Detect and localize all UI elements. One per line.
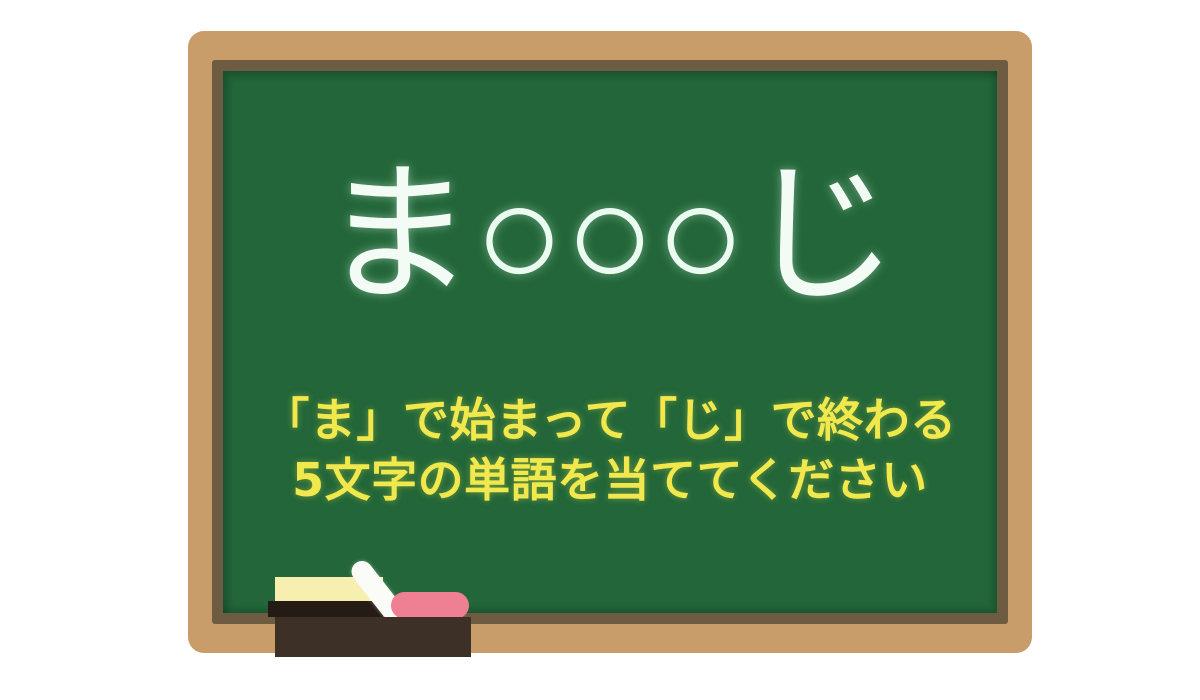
hint-line-2: 5文字の単語を当ててください — [223, 451, 997, 511]
chalk-tray — [275, 617, 471, 657]
chalkboard-surface: ま ○ ○ ○ じ 「ま」で始まって「じ」で終わる 5文字の単語を当ててください — [223, 71, 997, 613]
chalk-holder — [391, 592, 469, 619]
puzzle-char-1: ま — [322, 159, 474, 311]
chalkboard-bevel: ま ○ ○ ○ じ 「ま」で始まって「じ」で終わる 5文字の単語を当ててください — [212, 60, 1008, 624]
hint-line-1: 「ま」で始まって「じ」で終わる — [223, 391, 997, 451]
puzzle-blank-2: ○ — [565, 160, 656, 310]
puzzle-char-5: じ — [746, 159, 898, 311]
eraser-base — [268, 601, 383, 617]
hint-block: 「ま」で始まって「じ」で終わる 5文字の単語を当ててください — [223, 391, 997, 511]
puzzle-row: ま ○ ○ ○ じ — [223, 159, 997, 311]
puzzle-blank-1: ○ — [474, 160, 565, 310]
chalkboard-scene: ま ○ ○ ○ じ 「ま」で始まって「じ」で終わる 5文字の単語を当ててください — [0, 0, 1200, 700]
puzzle-blank-3: ○ — [655, 160, 746, 310]
chalkboard-frame: ま ○ ○ ○ じ 「ま」で始まって「じ」で終わる 5文字の単語を当ててください — [188, 31, 1032, 653]
